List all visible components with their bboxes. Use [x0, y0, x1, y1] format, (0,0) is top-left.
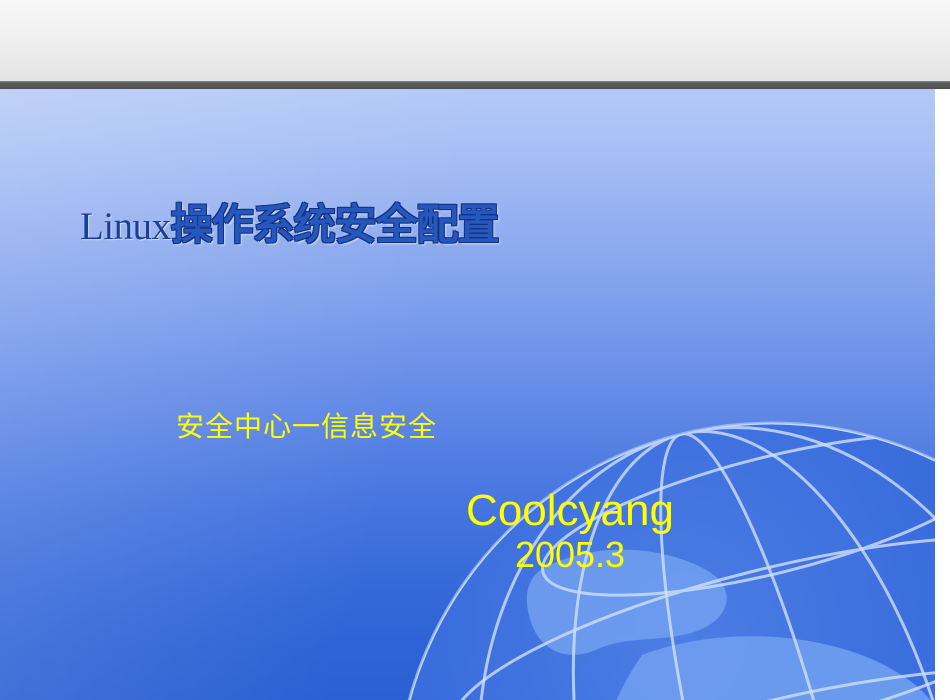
slide-screenshot: Linux操作系统安全配置 安全中心一信息安全 Coolcyang 2005.3…: [0, 0, 950, 700]
presentation-slide: Linux操作系统安全配置 安全中心一信息安全 Coolcyang 2005.3…: [0, 89, 935, 700]
author-name: Coolcyang: [430, 487, 710, 535]
top-divider-bar: [0, 81, 950, 89]
title-english-part: Linux: [80, 205, 171, 248]
slide-right-margin: [935, 89, 950, 700]
top-chrome-band: [0, 0, 950, 81]
author-block: Coolcyang 2005.3: [430, 487, 710, 574]
author-date: 2005.3: [430, 535, 710, 575]
slide-subtitle: 安全中心一信息安全: [176, 411, 437, 443]
title-chinese-part: 操作系统安全配置: [171, 200, 499, 249]
slide-title: Linux操作系统安全配置: [80, 204, 499, 246]
